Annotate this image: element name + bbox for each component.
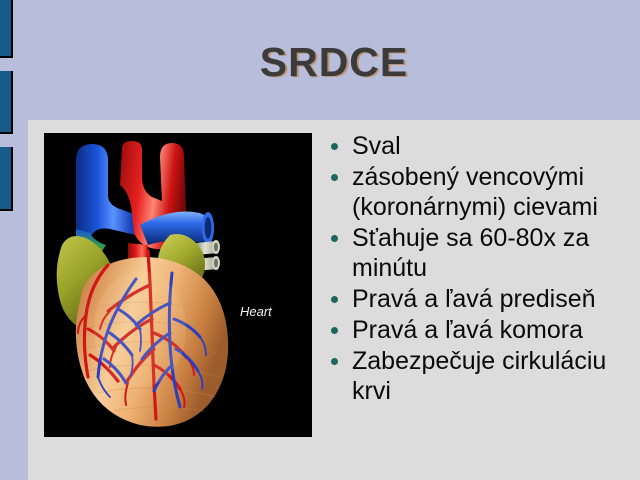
page-title: SRDCE — [28, 42, 640, 83]
list-item: Pravá a ľavá komora — [326, 315, 638, 345]
band-block-1 — [0, 0, 13, 58]
heart-image: Heart — [44, 133, 312, 437]
list-item: Zabezpečuje cirkuláciu krvi — [326, 346, 638, 406]
list-item: zásobený vencovými (koronárnymi) cievami — [326, 162, 638, 222]
presentation-slide: SRDCE — [0, 0, 640, 480]
band-block-2 — [0, 71, 13, 134]
left-decorative-band — [0, 0, 28, 480]
picture-caption: Heart — [240, 304, 272, 319]
band-block-3 — [0, 147, 13, 211]
list-item: Pravá a ľavá prediseň — [326, 284, 638, 314]
list-item: Sval — [326, 131, 638, 161]
list-item: Sťahuje sa 60-80x za minútu — [326, 223, 638, 283]
title-area: SRDCE — [28, 0, 640, 120]
bullet-list: Sval zásobený vencovými (koronárnymi) ci… — [326, 131, 638, 407]
